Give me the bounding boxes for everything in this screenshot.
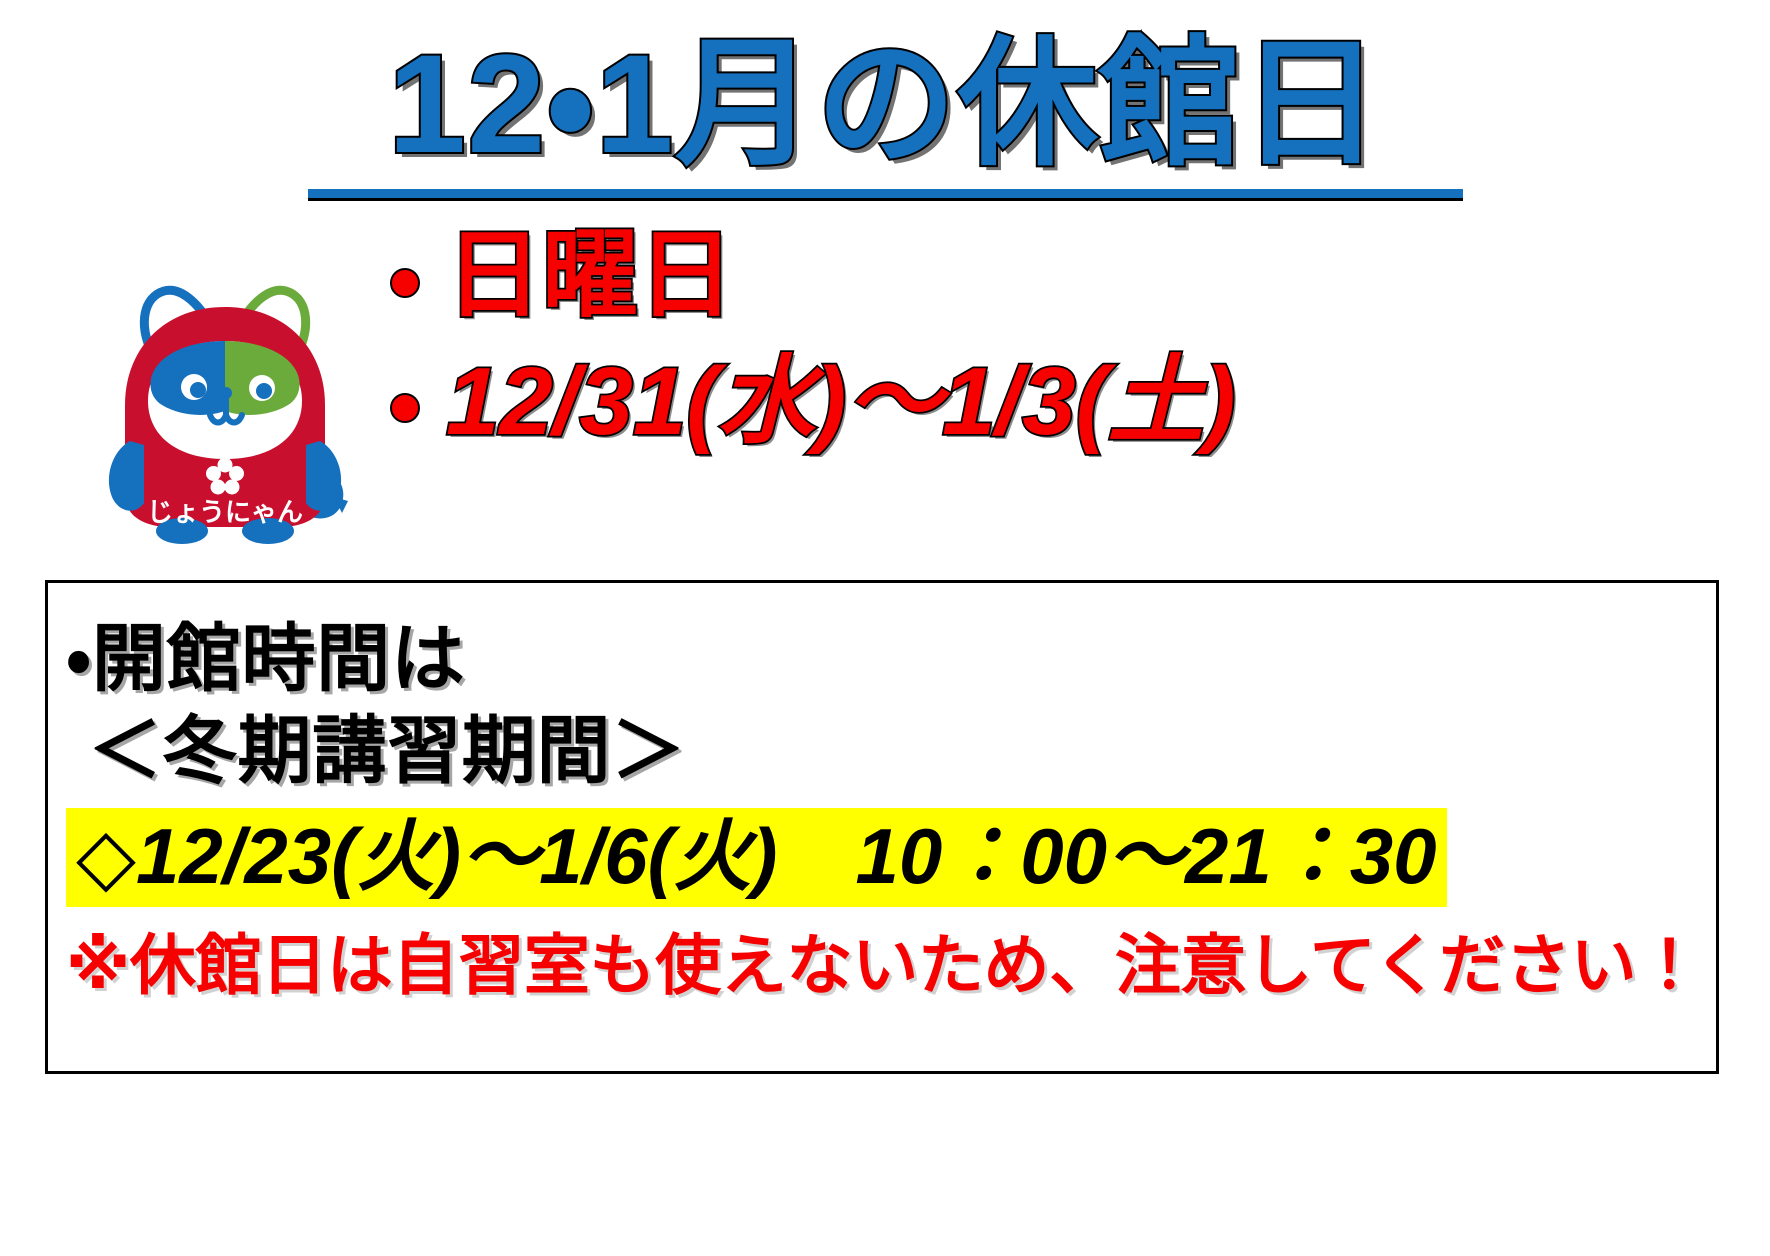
winter-term-label: ＜冬期講習期間＞ xyxy=(66,709,1716,793)
closed-day-warning: ※休館日は自習室も使えないため、注意してください！ xyxy=(66,927,1716,1005)
winter-term-hours-highlight: ◇12/23(火)～1/6(火) 10：00～21：30 xyxy=(66,808,1447,908)
closed-day-item: 日曜日 xyxy=(390,222,1730,330)
page-title: 12・1月の休館日 xyxy=(0,28,1770,201)
title-underline xyxy=(308,189,1463,201)
closed-day-item: 12/31(水)～1/3(土) xyxy=(390,348,1730,456)
cat-mascot-icon: じょうにゃん xyxy=(90,245,360,545)
bullet-dot-icon xyxy=(390,268,420,298)
closed-day-label: 日曜日 xyxy=(446,222,734,330)
poster-page: { "poster": { "title": "12・1月の休館日", "tit… xyxy=(0,0,1770,1256)
opening-hours-heading: ・開館時間は xyxy=(66,617,1716,701)
closed-days-list: 日曜日 12/31(水)～1/3(土) xyxy=(390,222,1730,473)
bullet-dot-icon xyxy=(390,393,420,423)
opening-hours-box: ・開館時間は ＜冬期講習期間＞ ◇12/23(火)～1/6(火) 10：00～2… xyxy=(45,580,1719,1074)
mascot-name-label: じょうにゃん xyxy=(147,497,303,527)
page-title-text: 12・1月の休館日 xyxy=(374,28,1396,185)
closed-day-label: 12/31(水)～1/3(土) xyxy=(446,348,1236,456)
